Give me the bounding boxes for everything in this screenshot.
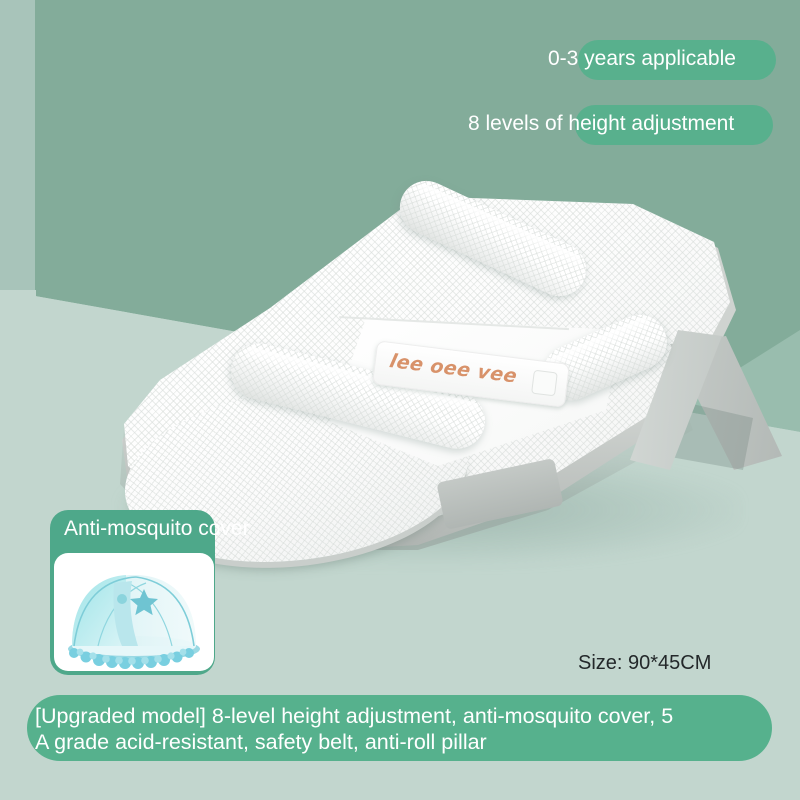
mosquito-net-icon xyxy=(54,553,214,671)
height-badge-label: 8 levels of height adjustment xyxy=(468,112,734,136)
age-badge-label: 0-3 years applicable xyxy=(548,47,736,71)
description-text: [Upgraded model] 8-level height adjustme… xyxy=(35,703,795,755)
product-photo-scene: lee oee vee 0-3 years applicable 8 level… xyxy=(0,0,800,800)
size-label: Size: 90*45CM xyxy=(578,652,711,675)
anti-mosquito-thumbnail xyxy=(54,553,214,671)
anti-mosquito-title: Anti-mosquito cover xyxy=(64,517,250,541)
brand-logo: lee oee vee xyxy=(387,350,519,387)
belt-buckle xyxy=(531,370,558,397)
